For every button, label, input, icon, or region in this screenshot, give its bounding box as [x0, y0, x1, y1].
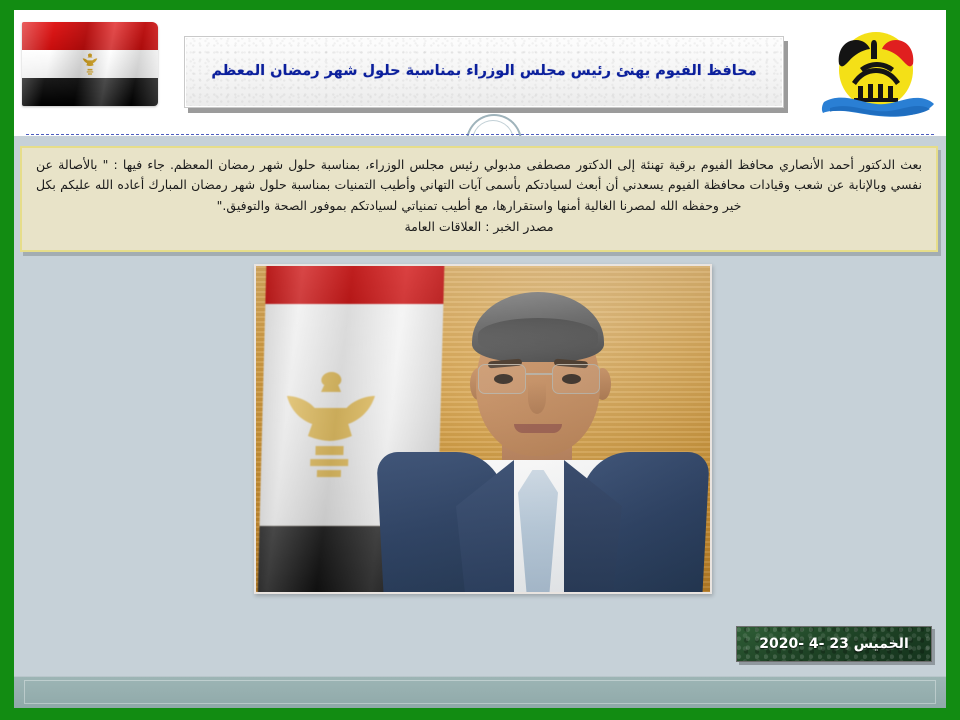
news-body-box: بعث الدكتور أحمد الأنصاري محافظ الفيوم ب… [20, 146, 938, 252]
news-title-plaque: محافظ الفيوم يهنئ رئيس مجلس الوزراء بمنا… [184, 36, 784, 108]
date-badge: الخميس 23 -4 -2020 [736, 626, 932, 662]
page-inner: محافظ الفيوم يهنئ رئيس مجلس الوزراء بمنا… [14, 10, 946, 708]
person-mouth [514, 424, 562, 433]
eyeglass-lens-right [552, 364, 600, 394]
eagle-of-saladin-icon [77, 51, 103, 77]
person-hair [472, 292, 604, 362]
news-body-text: بعث الدكتور أحمد الأنصاري محافظ الفيوم ب… [36, 155, 922, 216]
person-nose [528, 382, 546, 414]
page-root: محافظ الفيوم يهنئ رئيس مجلس الوزراء بمنا… [0, 0, 960, 720]
flag-band-black [22, 78, 158, 106]
header-divider [26, 134, 934, 135]
egypt-flag-image [22, 22, 158, 106]
footer-inner-border [24, 680, 936, 704]
fayoum-governorate-logo [814, 24, 938, 128]
eyeglass-lens-left [478, 364, 526, 394]
egypt-flag [16, 18, 164, 126]
date-badge-text: الخميس 23 -4 -2020 [759, 636, 909, 652]
content-area: بعث الدكتور أحمد الأنصاري محافظ الفيوم ب… [14, 136, 946, 676]
person-figure [384, 274, 710, 592]
governor-portrait-image [256, 266, 710, 592]
page-title: محافظ الفيوم يهنئ رئيس مجلس الوزراء بمنا… [211, 61, 756, 82]
flag-band-red [22, 22, 158, 50]
fayoum-logo-icon [814, 24, 938, 128]
page-footer [14, 676, 946, 708]
news-source-text: مصدر الخبر : العلاقات العامة [36, 217, 922, 237]
page-header: محافظ الفيوم يهنئ رئيس مجلس الوزراء بمنا… [14, 10, 946, 136]
eyeglass-bridge [526, 373, 552, 375]
governor-portrait [254, 264, 712, 594]
